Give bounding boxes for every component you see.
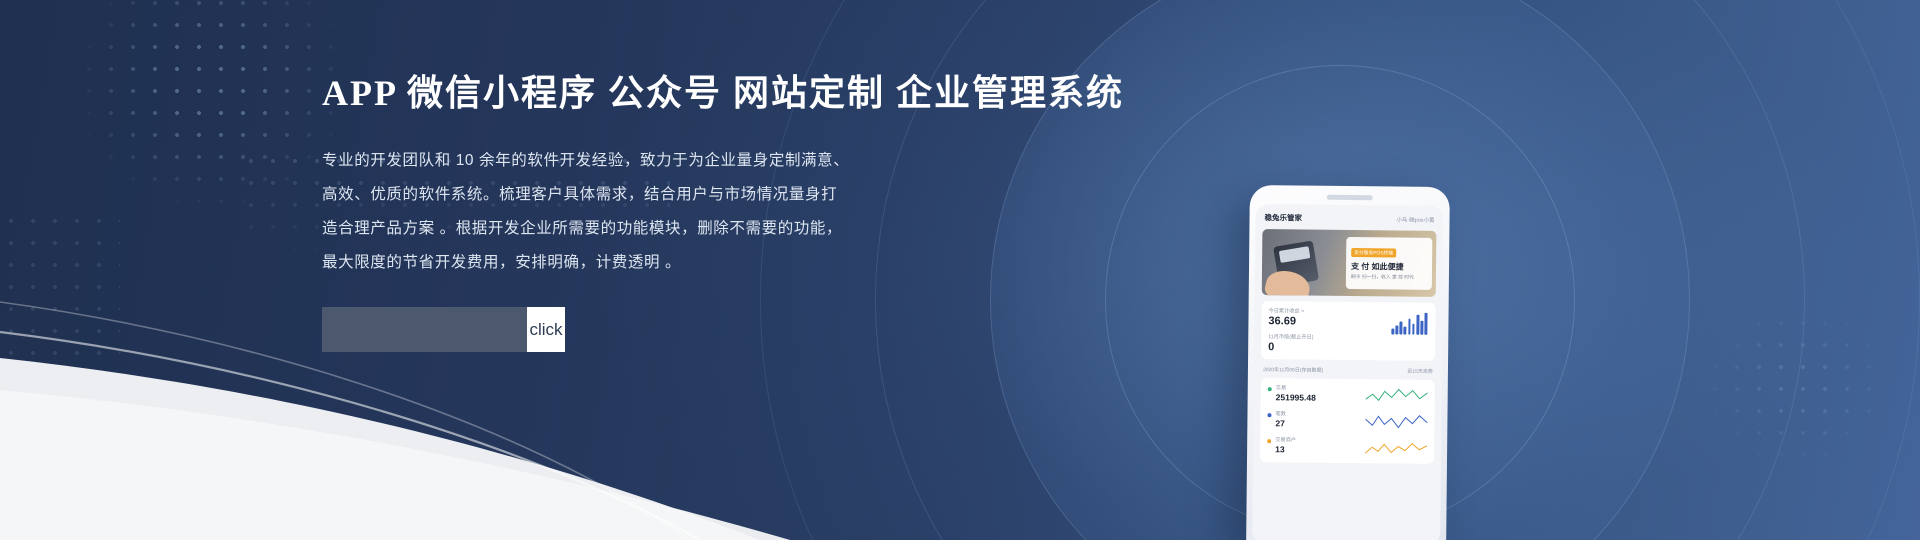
stat-value: 251995.48	[1276, 392, 1316, 402]
page-title: APP 微信小程序 公众号 网站定制 企业管理系统	[322, 64, 1142, 116]
stats-card: 交易 251995.48 笔数 27	[1260, 378, 1435, 464]
status-dot-icon	[1267, 439, 1271, 443]
phone-speaker	[1327, 195, 1373, 200]
status-dot-icon	[1267, 413, 1271, 417]
stat-row[interactable]: 笔数 27	[1267, 410, 1427, 432]
promo-card: 支付服务POS终端 支 付 如此便捷 刷卡 扫一扫，收入 掌 控 时代	[1346, 237, 1433, 290]
cta-row: click	[322, 307, 565, 352]
description-line-2: 高效、优质的软件系统。梳理客户具体需求，结合用户与市场情况量身打	[322, 178, 1142, 212]
stats-range: 近15天走势	[1407, 368, 1433, 375]
phone-screen: 稳兔乐管家 小马·驰pos小黄 支付服务POS终端 支 付 如此便捷 刷卡 扫一…	[1252, 204, 1444, 540]
click-button[interactable]: click	[527, 307, 565, 352]
app-brand: 稳兔乐管家	[1264, 212, 1302, 223]
stat-name: 交易	[1276, 384, 1316, 391]
stat-name: 交易商户	[1275, 436, 1296, 443]
sparkline-chart	[1365, 411, 1427, 432]
today-earnings-card[interactable]: 今日累计收益 > 36.69 11月市级(截止开日) 0	[1261, 301, 1436, 361]
promo-subtitle: 刷卡 扫一扫，收入 掌 控 时代	[1351, 274, 1427, 282]
stat-row[interactable]: 交易商户 13	[1267, 436, 1427, 458]
status-dot-icon	[1268, 387, 1272, 391]
month-value: 0	[1268, 341, 1428, 355]
hero-content: APP 微信小程序 公众号 网站定制 企业管理系统 专业的开发团队和 10 余年…	[322, 64, 1142, 352]
stat-value: 13	[1275, 444, 1296, 454]
hero-banner: APP 微信小程序 公众号 网站定制 企业管理系统 专业的开发团队和 10 余年…	[0, 0, 1920, 540]
stats-date: 2020年11月05日(存自数据)	[1263, 366, 1323, 374]
stat-row[interactable]: 交易 251995.48	[1268, 384, 1428, 406]
description-line-3: 造合理产品方案 。根据开发企业所需要的功能模块，删除不需要的功能，	[322, 212, 1142, 246]
description-line-4: 最大限度的节省开发费用，安排明确，计费透明 。	[322, 246, 1142, 280]
stats-meta-row: 2020年11月05日(存自数据) 近15天走势	[1261, 366, 1435, 375]
stat-name: 笔数	[1275, 410, 1285, 417]
hero-description: 专业的开发团队和 10 余年的软件开发经验，致力于为企业量身定制满意、 高效、优…	[322, 144, 1142, 280]
app-header: 稳兔乐管家 小马·驰pos小黄	[1262, 210, 1436, 231]
sparkline-chart	[1366, 385, 1428, 406]
stat-value: 27	[1275, 418, 1285, 428]
contact-input[interactable]	[322, 307, 527, 352]
phone-mockup: 稳兔乐管家 小马·驰pos小黄 支付服务POS终端 支 付 如此便捷 刷卡 扫一…	[1246, 185, 1450, 540]
description-line-1: 专业的开发团队和 10 余年的软件开发经验，致力于为企业量身定制满意、	[322, 144, 1142, 178]
mini-bar-chart	[1391, 312, 1427, 334]
app-subtitle: 小马·驰pos小黄	[1396, 215, 1434, 223]
promo-title: 支 付 如此便捷	[1351, 261, 1427, 273]
promo-tag: 支付服务POS终端	[1351, 248, 1396, 257]
promo-banner[interactable]: 支付服务POS终端 支 付 如此便捷 刷卡 扫一扫，收入 掌 控 时代	[1262, 229, 1437, 297]
sparkline-chart	[1365, 437, 1427, 458]
